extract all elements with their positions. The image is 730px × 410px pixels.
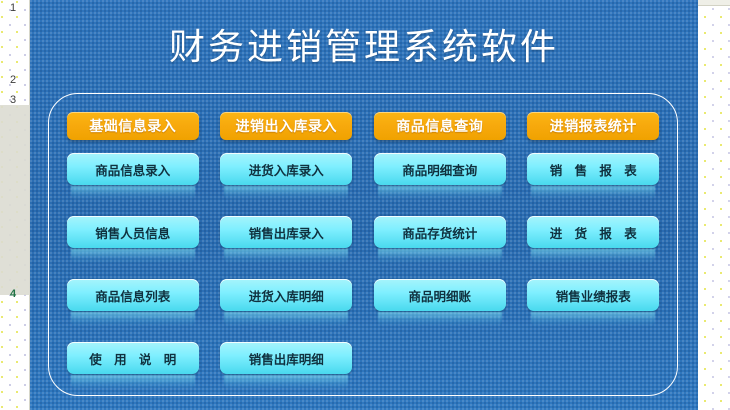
application-window: 1 2 3 4 财务进销管理系统软件 基础信息录入 商品信息录入 销售人员信息 <box>0 0 730 410</box>
column-header-reports[interactable]: 进销报表统计 <box>527 112 659 140</box>
button-reflection <box>224 375 348 390</box>
menu-button-wrap: 销 售 报 表 <box>527 153 659 203</box>
button-reflection <box>71 312 195 327</box>
column-header-strip[interactable] <box>698 0 730 6</box>
button-reflection <box>71 375 195 390</box>
menu-button-wrap: 销售出库明细 <box>220 342 352 392</box>
row-label-2[interactable]: 2 <box>0 74 26 86</box>
menu-button-wrap: 商品信息录入 <box>67 153 199 203</box>
button-reflection <box>224 249 348 264</box>
menu-button-wrap: 销售出库录入 <box>220 216 352 266</box>
menu-button-sales-report[interactable]: 销 售 报 表 <box>527 153 659 185</box>
menu-button-wrap: 销售业绩报表 <box>527 279 659 329</box>
menu-button-instructions[interactable]: 使 用 说 明 <box>67 342 199 374</box>
menu-button-purchase-inbound-detail[interactable]: 进货入库明细 <box>220 279 352 311</box>
button-reflection <box>71 186 195 201</box>
menu-button-product-info-entry[interactable]: 商品信息录入 <box>67 153 199 185</box>
menu-column-basic-info: 基础信息录入 商品信息录入 销售人员信息 商品信息列表 使 用 说 明 <box>62 93 204 392</box>
button-reflection <box>224 312 348 327</box>
menu-button-wrap: 进货入库录入 <box>220 153 352 203</box>
menu-button-wrap: 商品明细查询 <box>374 153 506 203</box>
menu-button-purchase-report[interactable]: 进 货 报 表 <box>527 216 659 248</box>
dashboard-panel: 财务进销管理系统软件 基础信息录入 商品信息录入 销售人员信息 商品信息列表 <box>30 0 698 410</box>
menu-button-product-ledger[interactable]: 商品明细账 <box>374 279 506 311</box>
menu-button-wrap: 商品存货统计 <box>374 216 506 266</box>
column-header-product-query[interactable]: 商品信息查询 <box>374 112 506 140</box>
menu-columns: 基础信息录入 商品信息录入 销售人员信息 商品信息列表 使 用 说 明 <box>48 93 678 396</box>
row-selection-band <box>0 105 30 295</box>
button-reflection <box>531 312 655 327</box>
menu-button-sales-outbound-detail[interactable]: 销售出库明细 <box>220 342 352 374</box>
menu-button-product-detail-query[interactable]: 商品明细查询 <box>374 153 506 185</box>
row-label-4[interactable]: 4 <box>0 288 26 300</box>
menu-button-purchase-inbound-entry[interactable]: 进货入库录入 <box>220 153 352 185</box>
column-header-basic-info[interactable]: 基础信息录入 <box>67 112 199 140</box>
button-reflection <box>378 312 502 327</box>
button-reflection <box>531 186 655 201</box>
button-reflection <box>71 249 195 264</box>
menu-button-sales-outbound-entry[interactable]: 销售出库录入 <box>220 216 352 248</box>
button-reflection <box>531 249 655 264</box>
button-reflection <box>378 249 502 264</box>
page-title: 财务进销管理系统软件 <box>30 18 698 70</box>
menu-button-wrap: 销售人员信息 <box>67 216 199 266</box>
menu-column-reports: 进销报表统计 销 售 报 表 进 货 报 表 销售业绩报表 <box>522 93 664 329</box>
menu-button-wrap: 进货入库明细 <box>220 279 352 329</box>
menu-column-product-query: 商品信息查询 商品明细查询 商品存货统计 商品明细账 <box>369 93 511 329</box>
menu-button-product-info-list[interactable]: 商品信息列表 <box>67 279 199 311</box>
column-header-inventory-entry[interactable]: 进销出入库录入 <box>220 112 352 140</box>
menu-button-salesperson-info[interactable]: 销售人员信息 <box>67 216 199 248</box>
row-label-3[interactable]: 3 <box>0 94 26 106</box>
menu-button-wrap: 商品明细账 <box>374 279 506 329</box>
menu-button-sales-performance-report[interactable]: 销售业绩报表 <box>527 279 659 311</box>
spreadsheet-row-header-gutter[interactable]: 1 2 3 4 <box>0 0 30 410</box>
menu-button-product-stock-statistics[interactable]: 商品存货统计 <box>374 216 506 248</box>
button-reflection <box>378 186 502 201</box>
row-label-1[interactable]: 1 <box>0 2 26 14</box>
menu-column-inventory-entry: 进销出入库录入 进货入库录入 销售出库录入 进货入库明细 销售出库明细 <box>215 93 357 392</box>
menu-button-wrap: 商品信息列表 <box>67 279 199 329</box>
menu-button-wrap: 使 用 说 明 <box>67 342 199 392</box>
button-reflection <box>224 186 348 201</box>
menu-button-wrap: 进 货 报 表 <box>527 216 659 266</box>
